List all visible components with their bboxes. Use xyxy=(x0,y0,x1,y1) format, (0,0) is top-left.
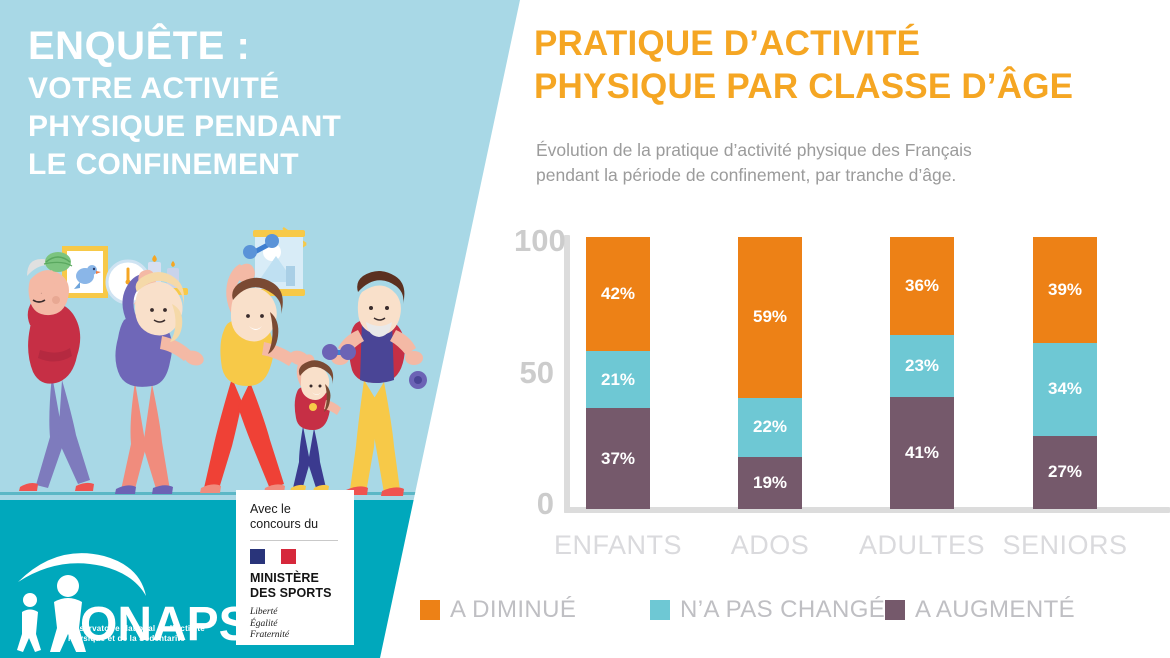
person-woman-yellow xyxy=(200,264,311,493)
bar-segment-dim[interactable]: 59% xyxy=(738,237,802,397)
headline-line-2a: VOTRE ACTIVITÉ xyxy=(28,70,428,108)
x-label-ados: ADOS xyxy=(731,530,810,561)
legend-item-a-diminue[interactable]: A DIMINUÉ xyxy=(420,592,576,628)
bar-segment-same[interactable]: 23% xyxy=(890,335,954,398)
bar-segment-same[interactable]: 34% xyxy=(1033,343,1097,435)
x-label-enfants: ENFANTS xyxy=(554,530,682,561)
chart-subtitle-line1: Évolution de la pratique d’activité phys… xyxy=(536,138,1136,163)
infographic-canvas: ENQUÊTE : VOTRE ACTIVITÉ PHYSIQUE PENDAN… xyxy=(0,0,1170,658)
headline-line-2b: PHYSIQUE PENDANT xyxy=(28,108,428,146)
left-hero-panel: ENQUÊTE : VOTRE ACTIVITÉ PHYSIQUE PENDAN… xyxy=(0,0,540,658)
bar-segment-same[interactable]: 21% xyxy=(586,351,650,408)
legend-label: N’A PAS CHANGÉ xyxy=(680,596,885,624)
onaps-tagline: Observatoire National de l'Activité Phys… xyxy=(68,624,238,644)
french-flag-icon xyxy=(250,549,296,564)
chart-panel: PRATIQUE D’ACTIVITÉ PHYSIQUE PAR CLASSE … xyxy=(520,0,1170,658)
motto-egalite: Égalité xyxy=(250,619,342,631)
headline-line-2c: LE CONFINEMENT xyxy=(28,146,428,184)
x-label-adultes: ADULTES xyxy=(859,530,985,561)
y-tick-0: 0 xyxy=(514,488,554,519)
y-axis xyxy=(564,235,570,513)
motto-fraternite: Fraternité xyxy=(250,630,342,642)
legend-item-na-pas-change[interactable]: N’A PAS CHANGÉ xyxy=(650,592,885,628)
bar-segment-up[interactable]: 27% xyxy=(1033,436,1097,509)
bar-segment-same[interactable]: 22% xyxy=(738,398,802,458)
bar-segment-dim[interactable]: 36% xyxy=(890,237,954,335)
chart-subtitle: Évolution de la pratique d’activité phys… xyxy=(536,138,1136,188)
bar-segment-dim[interactable]: 42% xyxy=(586,237,650,351)
avec-le-line1: Avec le xyxy=(250,502,342,517)
bar-segment-up[interactable]: 37% xyxy=(586,408,650,509)
chart-title: PRATIQUE D’ACTIVITÉ PHYSIQUE PAR CLASSE … xyxy=(534,22,1164,108)
onaps-tagline-line1: Observatoire National de l'Activité xyxy=(68,624,238,634)
family-exercising-illustration xyxy=(0,200,460,510)
bar-adultes[interactable]: 36%23%41% xyxy=(890,237,954,509)
card-divider xyxy=(250,540,338,541)
bar-segment-up[interactable]: 19% xyxy=(738,457,802,509)
legend-label: A AUGMENTÉ xyxy=(915,596,1075,624)
person-bearded-man xyxy=(331,271,423,496)
chart-subtitle-line2: pendant la période de confinement, par t… xyxy=(536,163,1136,188)
legend-label: A DIMINUÉ xyxy=(450,596,576,624)
bar-seniors[interactable]: 39%34%27% xyxy=(1033,237,1097,509)
bar-value-label: 42% xyxy=(586,284,650,304)
chart-legend: A DIMINUÉN’A PAS CHANGÉA AUGMENTÉ xyxy=(520,592,1170,628)
legend-swatch xyxy=(420,600,440,620)
onaps-tagline-line2: Physique et de la Sédentarité xyxy=(68,634,238,644)
bar-value-label: 59% xyxy=(738,307,802,327)
hero-headline: ENQUÊTE : VOTRE ACTIVITÉ PHYSIQUE PENDAN… xyxy=(28,22,428,184)
bar-value-label: 34% xyxy=(1033,379,1097,399)
chart-title-line2: PHYSIQUE PAR CLASSE D’ÂGE xyxy=(534,65,1164,108)
person-blonde-woman xyxy=(115,270,206,494)
legend-swatch xyxy=(885,600,905,620)
bar-value-label: 36% xyxy=(890,276,954,296)
bar-value-label: 19% xyxy=(738,473,802,493)
bar-segment-dim[interactable]: 39% xyxy=(1033,237,1097,343)
y-tick-100: 100 xyxy=(514,225,554,256)
avec-le-line2: concours du xyxy=(250,517,342,532)
bar-value-label: 39% xyxy=(1033,280,1097,300)
y-tick-50: 50 xyxy=(514,357,554,388)
ministry-name-line1: MINISTÈRE xyxy=(250,571,342,586)
ministry-partner-card: Avec le concours du MINISTÈRE DES SPORTS… xyxy=(236,490,354,645)
chart-title-line1: PRATIQUE D’ACTIVITÉ xyxy=(534,22,1164,65)
headline-line-1: ENQUÊTE : xyxy=(28,22,428,70)
person-child xyxy=(290,354,341,492)
motto-liberte: Liberté xyxy=(250,607,342,619)
bar-value-label: 23% xyxy=(890,356,954,376)
stacked-bar-plot: 100 50 0 42%21%37%59%22%19%36%23%41%39%3… xyxy=(520,225,1170,515)
bar-value-label: 27% xyxy=(1033,462,1097,482)
bar-value-label: 37% xyxy=(586,449,650,469)
bar-ados[interactable]: 59%22%19% xyxy=(738,237,802,509)
ministry-name-line2: DES SPORTS xyxy=(250,586,342,601)
bar-value-label: 21% xyxy=(586,370,650,390)
legend-swatch xyxy=(650,600,670,620)
bar-value-label: 22% xyxy=(738,417,802,437)
dumbbell-purple-lower-icon xyxy=(409,371,427,389)
x-axis-labels: ENFANTSADOSADULTESSENIORS xyxy=(520,530,1170,564)
bar-value-label: 41% xyxy=(890,443,954,463)
bar-segment-up[interactable]: 41% xyxy=(890,397,954,509)
bar-enfants[interactable]: 42%21%37% xyxy=(586,237,650,509)
legend-item-a-augmente[interactable]: A AUGMENTÉ xyxy=(885,592,1075,628)
x-label-seniors: SENIORS xyxy=(1002,530,1127,561)
